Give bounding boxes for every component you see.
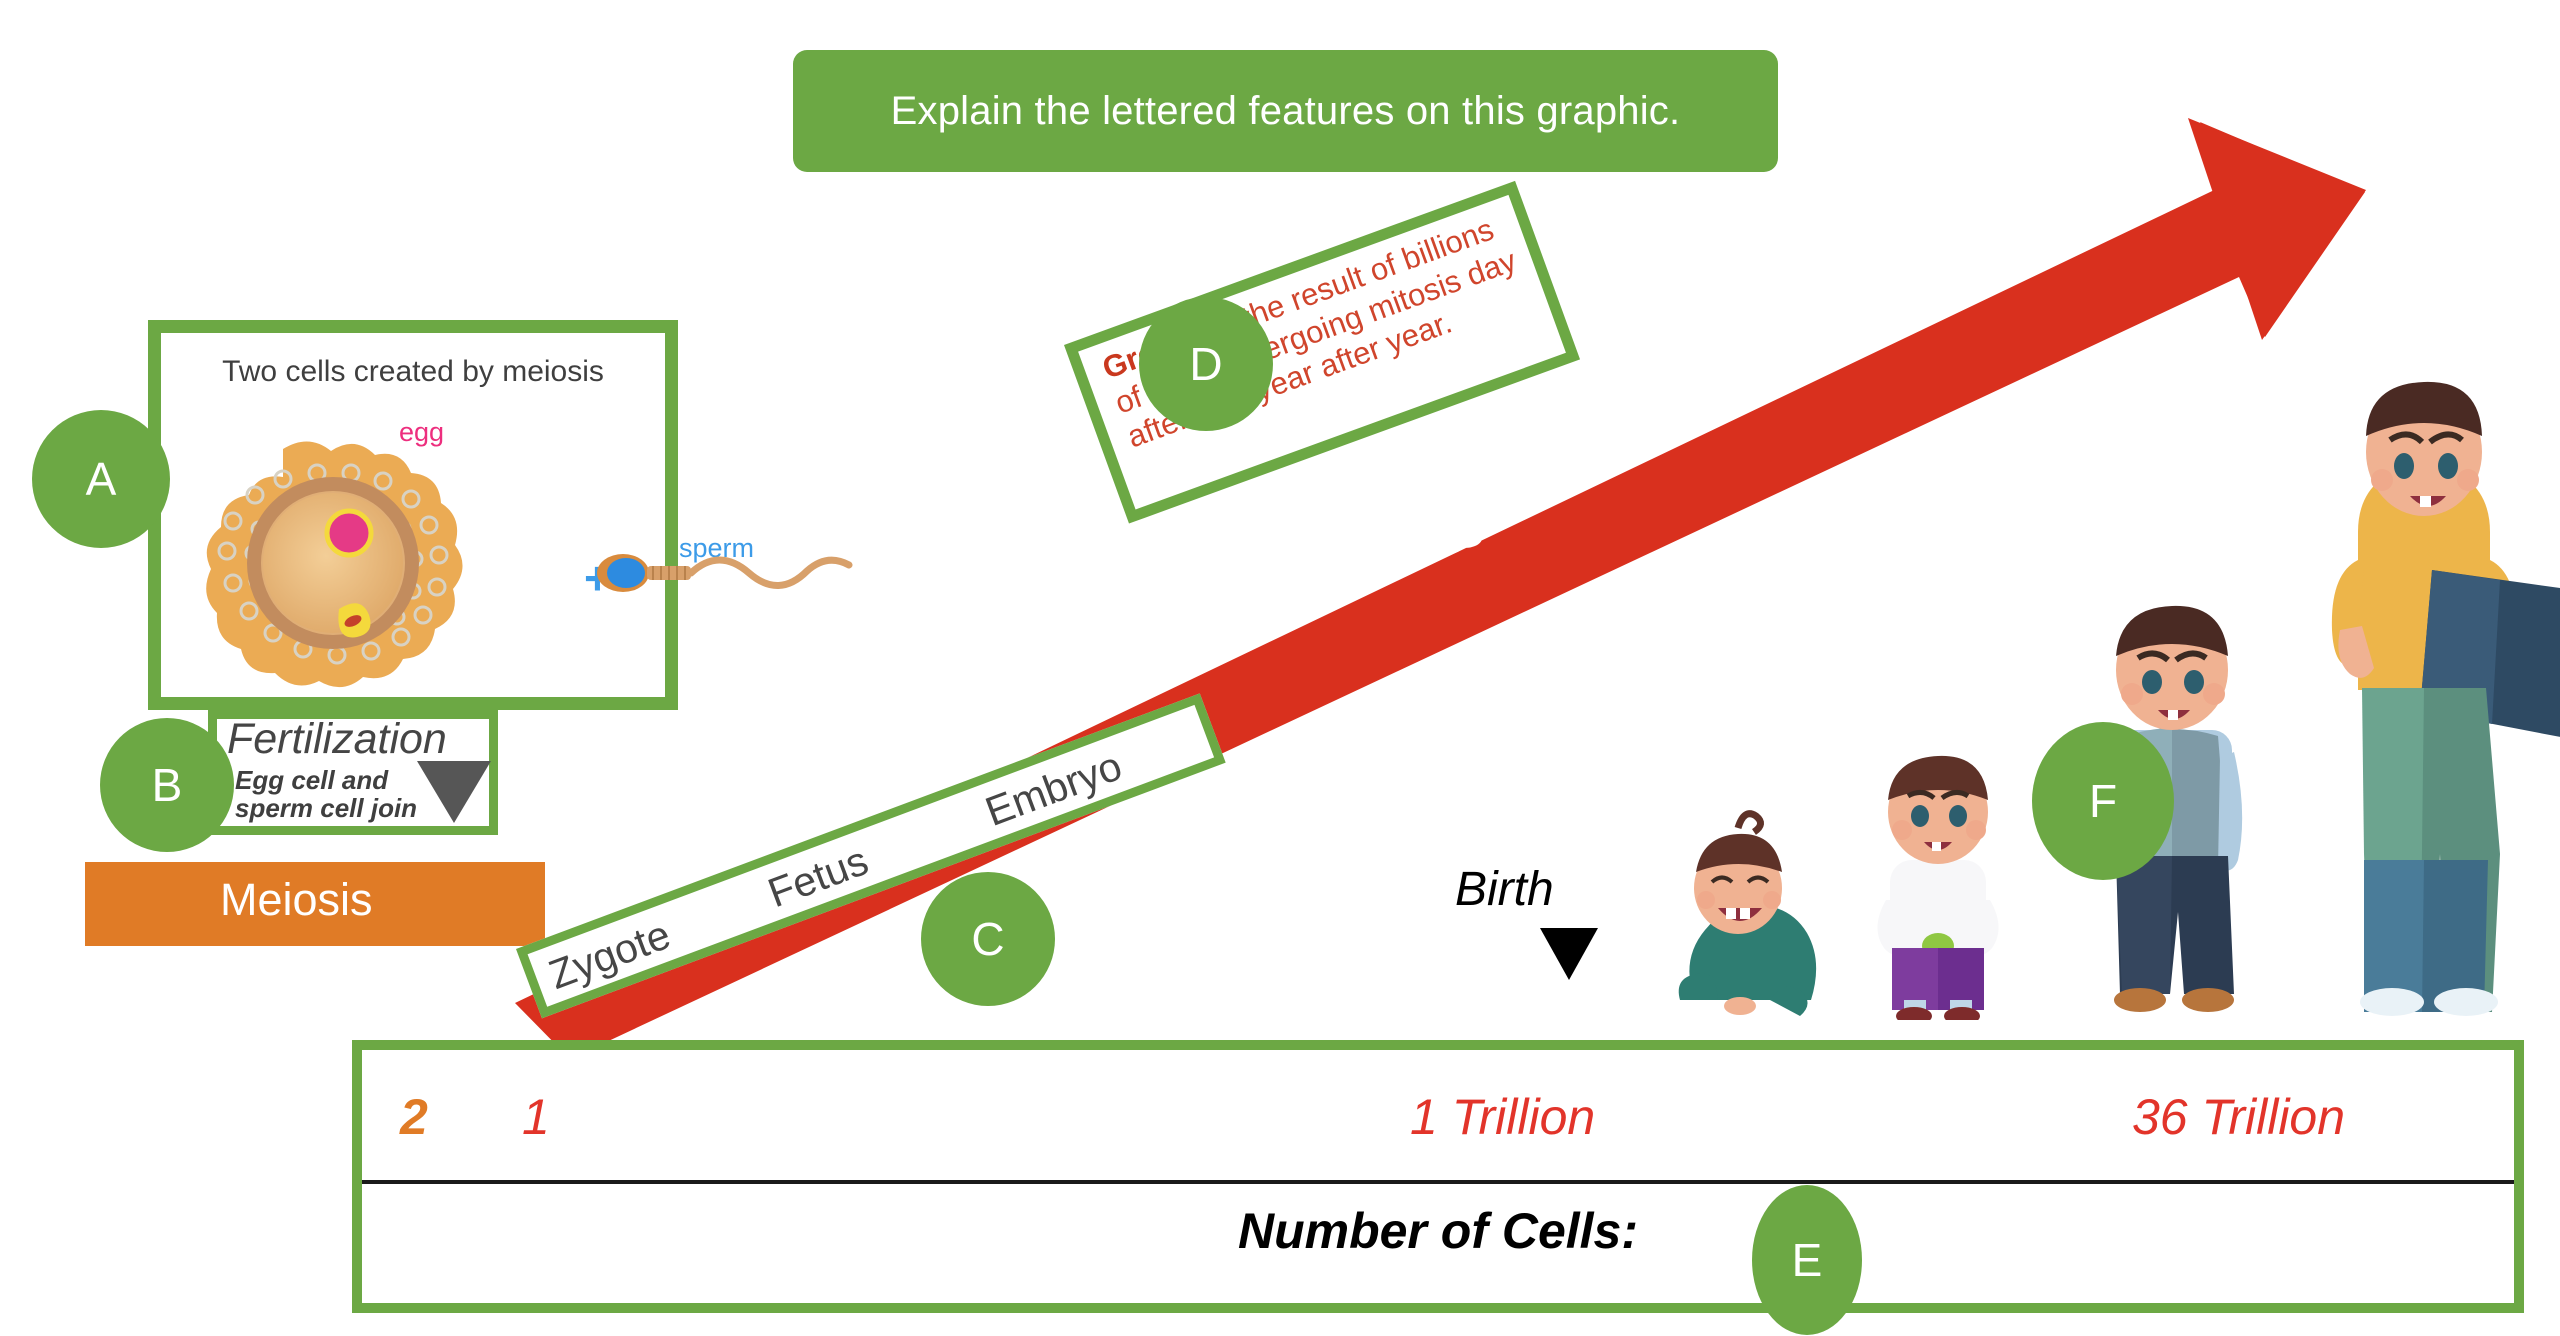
marker-d[interactable]: D (1139, 297, 1273, 431)
birth-label: Birth (1455, 862, 1554, 917)
marker-d-label: D (1189, 341, 1222, 387)
fertilization-subtitle: Egg cell and sperm cell join (235, 766, 425, 822)
marker-b[interactable]: B (100, 718, 234, 852)
stage-label-embryo: Embryo (979, 742, 1128, 835)
fertilization-title: Fertilization (227, 715, 479, 764)
sperm-cell-icon (593, 541, 853, 611)
marker-a[interactable]: A (32, 410, 170, 548)
marker-f[interactable]: F (2032, 722, 2174, 880)
meiosis-panel-title: Two cells created by meiosis (161, 355, 665, 389)
marker-e[interactable]: E (1752, 1185, 1862, 1335)
cell-count-1: 1 (522, 1088, 550, 1146)
instruction-text: Explain the lettered features on this gr… (891, 89, 1681, 134)
figure-toddler (1877, 756, 1998, 1020)
birth-down-triangle-icon (1540, 928, 1598, 980)
meiosis-panel: Two cells created by meiosis egg sperm + (148, 320, 678, 710)
stage-label-zygote: Zygote (543, 911, 677, 999)
marker-b-label: B (152, 762, 183, 808)
marker-e-label: E (1792, 1237, 1823, 1283)
meiosis-bar-label: Meiosis (220, 874, 373, 926)
instruction-banner: Explain the lettered features on this gr… (793, 50, 1778, 172)
fertilization-box: Fertilization Egg cell and sperm cell jo… (208, 710, 498, 835)
egg-cell-icon (171, 433, 531, 693)
marker-a-label: A (86, 456, 117, 502)
marker-c[interactable]: C (921, 872, 1055, 1006)
graphic-canvas: Explain the lettered features on this gr… (0, 0, 2560, 1336)
stage-label-fetus: Fetus (762, 837, 875, 917)
figure-baby (1679, 814, 1816, 1016)
down-triangle-icon (417, 761, 491, 823)
figure-teen (2332, 382, 2560, 1016)
table-divider (362, 1180, 2514, 1184)
fertilization-subtitle-line2: sperm cell join (235, 794, 425, 822)
mitosis-label: Mitosis (1318, 497, 1491, 610)
cell-count-36-trillion: 36 Trillion (2132, 1088, 2345, 1146)
stages-bar: Zygote Fetus Embryo (516, 693, 1226, 1018)
human-growth-illustration (1620, 300, 2560, 1020)
cell-count-2: 2 (400, 1088, 428, 1146)
number-of-cells-table: 2 1 1 Trillion 36 Trillion Number of Cel… (352, 1040, 2524, 1313)
meiosis-bar: Meiosis (85, 862, 545, 946)
number-of-cells-label: Number of Cells: (362, 1202, 2514, 1260)
fertilization-subtitle-line1: Egg cell and (235, 766, 425, 794)
marker-c-label: C (971, 916, 1004, 962)
marker-f-label: F (2089, 778, 2117, 824)
cell-count-1-trillion: 1 Trillion (1410, 1088, 1595, 1146)
